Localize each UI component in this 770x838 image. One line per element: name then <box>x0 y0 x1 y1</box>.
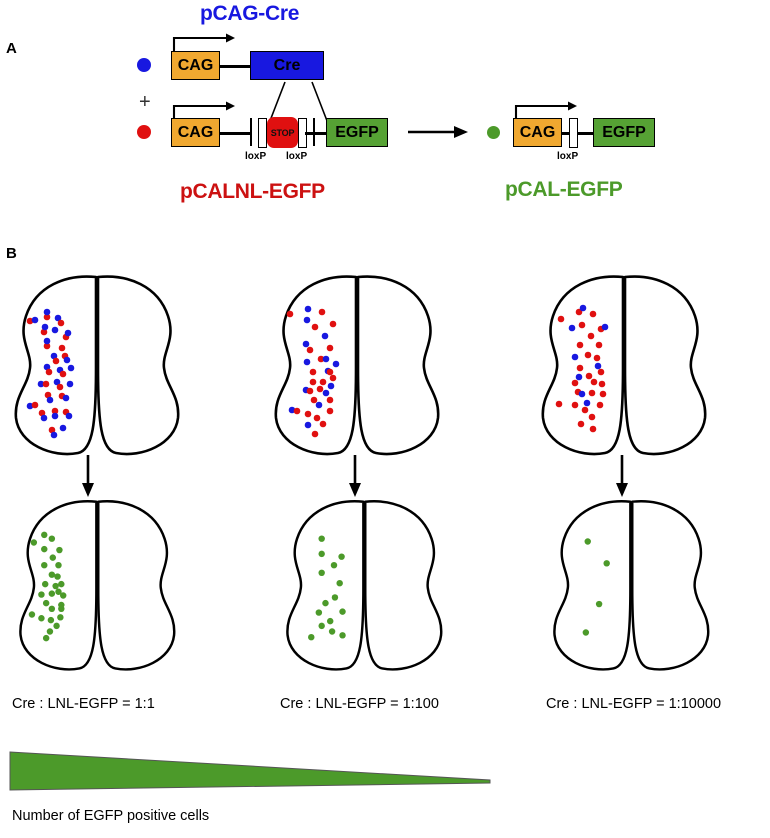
egfp-gradient-wedge <box>8 750 500 792</box>
pcal-egfp-title: pCAL-EGFP <box>505 178 622 202</box>
pcalnl-egfp-title: pCALNL-EGFP <box>180 180 325 204</box>
plus-operator: + <box>139 92 151 112</box>
wedge-caption: Number of EGFP positive cells <box>12 808 209 824</box>
condition-label-1to10000: Cre : LNL-EGFP = 1:10000 <box>546 696 721 712</box>
loxp-label-product: loxP <box>557 151 578 162</box>
organ-diagram-transfected-1to10000 <box>535 272 725 462</box>
down-arrow-icon-1to100 <box>345 455 365 497</box>
organ-diagram-transfected-1to100 <box>268 272 458 462</box>
connector-line-reporter-left <box>220 132 252 135</box>
cag-promoter-box-product: CAG <box>513 118 562 147</box>
green-dot-icon <box>487 126 500 139</box>
cre-gene-box: Cre <box>250 51 324 80</box>
cag-promoter-box-cre: CAG <box>171 51 220 80</box>
blue-dot-icon <box>137 58 151 72</box>
figure-root: A pCAG-Cre CAG Cre + CAG loxP STOP loxP … <box>0 0 770 838</box>
panel-letter-a: A <box>6 40 17 57</box>
down-arrow-icon-1to10000 <box>612 455 632 497</box>
down-arrow-icon-1to1 <box>78 455 98 497</box>
connector-line-cre <box>220 65 250 68</box>
loxp-label-right: loxP <box>286 151 307 162</box>
red-dot-icon <box>137 125 151 139</box>
stop-cassette: STOP <box>267 117 298 148</box>
connector-line-reporter-right <box>305 132 327 135</box>
cag-promoter-box-reporter: CAG <box>171 118 220 147</box>
organ-diagram-egfp-1to10000 <box>542 497 732 677</box>
egfp-gene-box-reporter: EGFP <box>326 118 388 147</box>
condition-label-1to100: Cre : LNL-EGFP = 1:100 <box>280 696 439 712</box>
egfp-gene-box-product: EGFP <box>593 118 655 147</box>
pcag-cre-title: pCAG-Cre <box>200 2 299 26</box>
site-tick-left <box>250 118 252 146</box>
reaction-arrow-icon <box>408 122 470 142</box>
organ-diagram-egfp-1to1 <box>8 497 198 677</box>
organ-diagram-egfp-1to100 <box>275 497 465 677</box>
connector-line-product-right <box>577 132 594 135</box>
loxp-label-left: loxP <box>245 151 266 162</box>
condition-label-1to1: Cre : LNL-EGFP = 1:1 <box>12 696 155 712</box>
panel-letter-b: B <box>6 245 17 262</box>
organ-diagram-transfected-1to1 <box>8 272 198 462</box>
loxp-site-left <box>258 118 267 148</box>
